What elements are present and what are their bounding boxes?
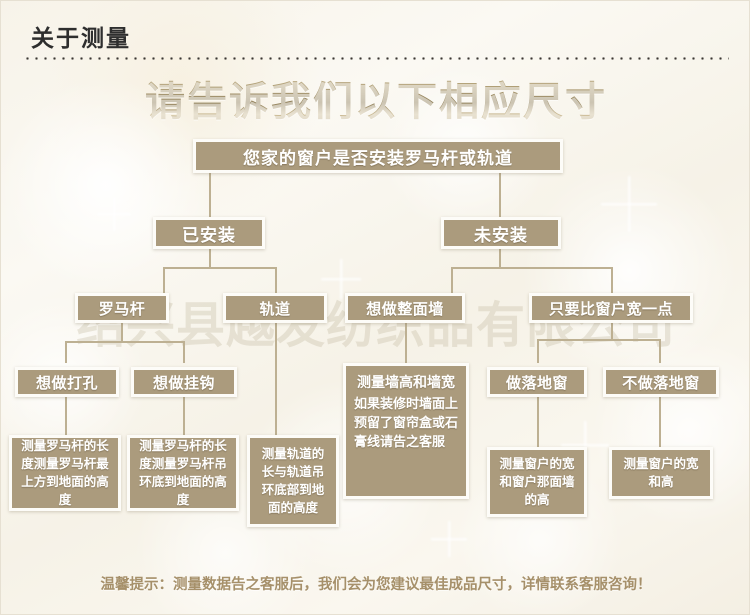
sparkle-icon bbox=[97, 197, 131, 231]
connector-line bbox=[65, 341, 67, 363]
dotted-divider bbox=[23, 57, 729, 60]
main-heading: 请告诉我们以下相应尺寸 bbox=[1, 69, 750, 127]
flow-node-hook[interactable]: 想做挂钩 bbox=[131, 367, 237, 397]
flow-leaf-window-wall[interactable]: 测量窗户的宽和窗户那面墙的高 bbox=[487, 447, 587, 517]
flow-node-installed[interactable]: 已安装 bbox=[153, 217, 265, 249]
flow-node-slightly-wider[interactable]: 只要比窗户宽一点 bbox=[529, 293, 693, 323]
flow-node-drill[interactable]: 想做打孔 bbox=[15, 367, 119, 397]
connector-line bbox=[121, 323, 123, 341]
flow-node-label: 未安装 bbox=[474, 221, 528, 246]
connector-line bbox=[163, 267, 277, 269]
flow-node-label: 做落地窗 bbox=[506, 372, 568, 393]
connector-line bbox=[659, 339, 661, 363]
flow-node-label: 不做落地窗 bbox=[622, 372, 700, 393]
flow-leaf-label: 测量窗户的宽和窗户那面墙的高 bbox=[496, 455, 578, 509]
connector-line bbox=[537, 339, 659, 341]
connector-line bbox=[451, 267, 613, 269]
flow-node-label: 想做整面墙 bbox=[366, 298, 444, 319]
flow-leaf-rod-ring[interactable]: 测量罗马杆的长度测量罗马杆吊环底到地面的高度 bbox=[127, 435, 239, 511]
connector-line bbox=[65, 341, 185, 343]
footer-note: 温馨提示：测量数据告之客服后，我们会为您建议最佳成品尺寸，详情联系客服咨询！ bbox=[1, 573, 750, 594]
connector-line bbox=[65, 397, 67, 435]
flow-node-label: 已安装 bbox=[182, 221, 236, 246]
flow-node-label: 轨道 bbox=[259, 298, 290, 319]
sparkle-icon bbox=[601, 176, 657, 232]
flow-leaf-window-wh[interactable]: 测量窗户的宽和高 bbox=[609, 447, 713, 499]
flow-node-no-floor-window[interactable]: 不做落地窗 bbox=[603, 367, 719, 397]
connector-line bbox=[499, 173, 501, 217]
flow-leaf-wall-measure[interactable]: 测量墙高和墙宽 如果装修时墙面上预留了窗帘盒或石膏线请告之客服 bbox=[343, 363, 469, 499]
connector-line bbox=[275, 323, 277, 435]
connector-line bbox=[275, 267, 277, 293]
flow-leaf-track-ring[interactable]: 测量轨道的长与轨道吊环底部到地面的高度 bbox=[247, 435, 339, 527]
flow-node-label: 罗马杆 bbox=[99, 298, 146, 319]
flow-node-full-wall[interactable]: 想做整面墙 bbox=[345, 293, 465, 323]
flow-node-label: 您家的窗户是否安装罗马杆或轨道 bbox=[243, 144, 513, 169]
flow-leaf-rod-top[interactable]: 测量罗马杆的长度测量罗马杆最上方到地面的高度 bbox=[9, 435, 121, 511]
flow-node-label: 想做打孔 bbox=[36, 372, 98, 393]
page-title: 关于测量 bbox=[31, 19, 131, 53]
connector-line bbox=[209, 173, 211, 217]
connector-line bbox=[209, 249, 211, 267]
flow-node-roman-rod[interactable]: 罗马杆 bbox=[75, 293, 169, 323]
connector-line bbox=[659, 397, 661, 447]
connector-line bbox=[611, 323, 613, 339]
connector-line bbox=[163, 267, 165, 293]
measurement-guide-page: 关于测量 请告诉我们以下相应尺寸 绍兴县越发纺织品有限公司 您家的窗户是否安装罗… bbox=[0, 0, 750, 615]
connector-line bbox=[405, 323, 407, 363]
connector-line bbox=[183, 341, 185, 363]
sparkle-icon bbox=[431, 521, 467, 557]
flow-leaf-body: 如果装修时墙面上预留了窗帘盒或石膏线请告之客服 bbox=[354, 396, 458, 453]
flow-node-track[interactable]: 轨道 bbox=[223, 293, 327, 323]
flow-node-label: 想做挂钩 bbox=[153, 372, 215, 393]
flow-leaf-heading: 测量墙高和墙宽 bbox=[357, 374, 455, 392]
flow-leaf-label: 测量窗户的宽和高 bbox=[618, 455, 704, 491]
flow-node-floor-window[interactable]: 做落地窗 bbox=[487, 367, 587, 397]
flow-leaf-label: 测量罗马杆的长度测量罗马杆吊环底到地面的高度 bbox=[136, 437, 230, 510]
connector-line bbox=[537, 339, 539, 363]
flow-leaf-label: 测量罗马杆的长度测量罗马杆最上方到地面的高度 bbox=[18, 437, 112, 510]
connector-line bbox=[611, 267, 613, 293]
connector-line bbox=[537, 397, 539, 447]
flow-node-root[interactable]: 您家的窗户是否安装罗马杆或轨道 bbox=[193, 139, 563, 173]
flow-leaf-label: 测量轨道的长与轨道吊环底部到地面的高度 bbox=[256, 445, 330, 518]
connector-line bbox=[183, 397, 185, 435]
connector-line bbox=[451, 267, 453, 293]
flow-node-not-installed[interactable]: 未安装 bbox=[441, 217, 561, 249]
flow-node-label: 只要比窗户宽一点 bbox=[549, 298, 673, 319]
connector-line bbox=[499, 249, 501, 267]
